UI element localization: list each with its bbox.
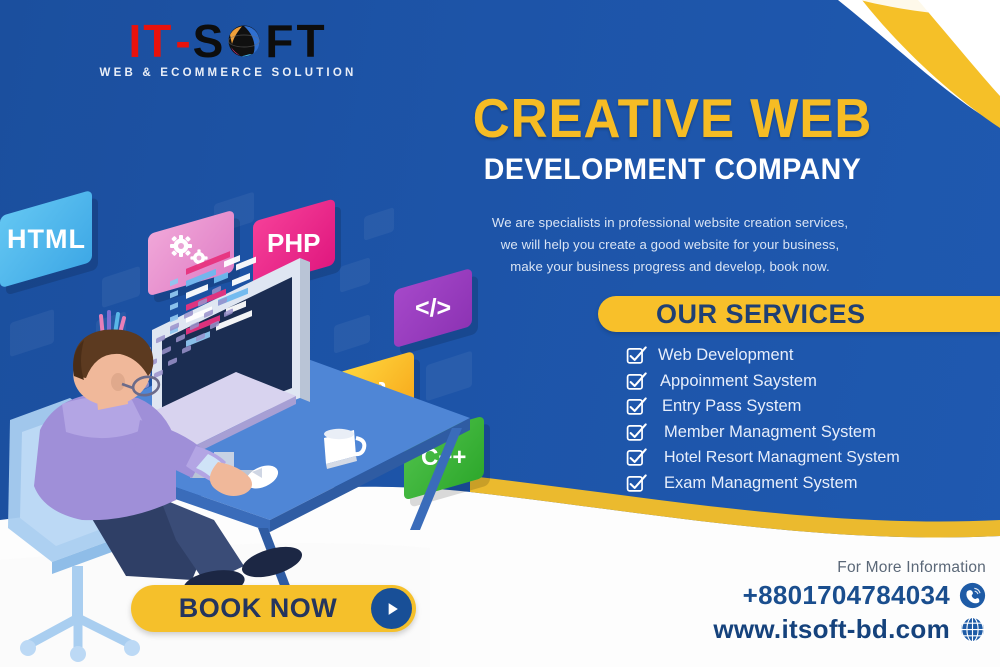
checkbox-checked-icon [626, 397, 648, 416]
list-item[interactable]: Exam Managment System [626, 474, 1000, 493]
checkbox-checked-icon [626, 372, 648, 391]
description-paragraph: We are specialists in professional websi… [420, 212, 920, 277]
services-heading-banner: OUR SERVICES [598, 296, 1000, 332]
logo-text-ft: FT [265, 18, 327, 64]
list-item[interactable]: Entry Pass System [626, 397, 1000, 416]
list-item[interactable]: Member Managment System [626, 423, 1000, 442]
list-item[interactable]: Hotel Resort Managment System [626, 448, 1000, 467]
logo-text-s: S [193, 18, 224, 64]
gears-icon [164, 231, 218, 276]
headline-line-2: DEVELOPMENT COMPANY [428, 153, 917, 187]
list-item[interactable]: Web Development [626, 346, 1000, 365]
checkbox-checked-icon [626, 423, 648, 442]
braces-card-label: { } [362, 378, 388, 407]
website-url: www.itsoft-bd.com [713, 614, 950, 645]
service-label: Exam Managment System [664, 474, 858, 493]
page-title: CREATIVE WEB DEVELOPMENT COMPANY [415, 92, 930, 187]
service-label: Hotel Resort Managment System [664, 449, 900, 467]
logo-text-dash: - [175, 18, 190, 64]
contact-info: For More Information +8801704784034 www.… [713, 559, 986, 645]
phone-number: +8801704784034 [743, 580, 950, 611]
website-row[interactable]: www.itsoft-bd.com [713, 614, 986, 645]
phone-icon [959, 582, 986, 609]
service-label: Member Managment System [664, 423, 876, 442]
book-now-label: BOOK NOW [131, 593, 371, 624]
service-label: Entry Pass System [662, 397, 801, 416]
checkbox-checked-icon [626, 346, 648, 365]
html-card-label: HTML [7, 224, 86, 255]
logo-text-it: IT [128, 18, 173, 64]
contact-label: For More Information [713, 559, 986, 577]
headline-line-1: CREATIVE WEB [433, 92, 912, 146]
book-now-button[interactable]: BOOK NOW [131, 585, 416, 632]
checkbox-checked-icon [626, 474, 648, 493]
services-list: Web Development Appoinment Saystem Entry… [626, 346, 1000, 499]
play-arrow-icon [371, 588, 412, 629]
promotional-banner: IT - S FT WEB & ECOMMERCE SOLUTION CREAT… [0, 0, 1000, 667]
logo-tagline: WEB & ECOMMERCE SOLUTION [78, 67, 378, 79]
company-logo[interactable]: IT - S FT WEB & ECOMMERCE SOLUTION [78, 18, 378, 79]
code-tag-card-label: </> [415, 294, 451, 323]
checkbox-checked-icon [626, 448, 648, 467]
service-label: Web Development [658, 346, 793, 365]
list-item[interactable]: Appoinment Saystem [626, 372, 1000, 391]
globe-icon [959, 616, 986, 643]
logo-wordmark: IT - S FT [78, 18, 378, 64]
services-heading-label: OUR SERVICES [656, 299, 866, 330]
description-line-1: We are specialists in professional websi… [420, 212, 920, 234]
service-label: Appoinment Saystem [660, 372, 817, 391]
globe-icon [224, 21, 264, 61]
php-card-label: PHP [267, 228, 320, 259]
description-line-3: make your business progress and develop,… [420, 256, 920, 278]
description-line-2: we will help you create a good website f… [420, 234, 920, 256]
phone-row[interactable]: +8801704784034 [713, 580, 986, 611]
cpp-card-label: C++ [421, 444, 466, 472]
